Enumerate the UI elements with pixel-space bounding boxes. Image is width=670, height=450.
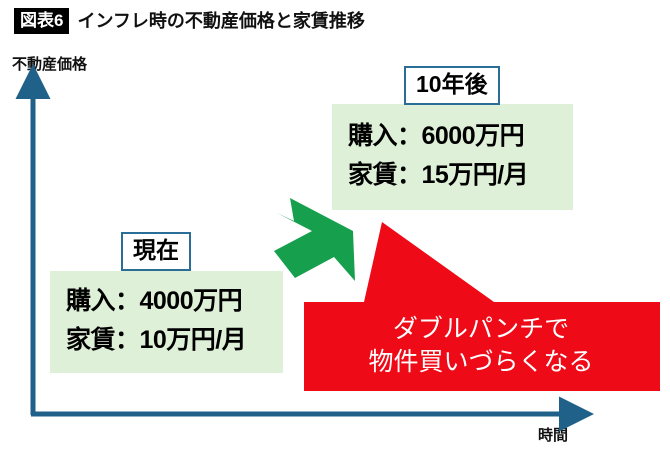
future-value-card: 購入：6000万円 家賃：15万円/月 bbox=[332, 104, 573, 210]
x-axis-label: 時間 bbox=[538, 428, 568, 443]
future-purchase-value: 購入：6000万円 bbox=[348, 124, 557, 149]
infographic-canvas: 図表6 インフレ時の不動産価格と家賃推移 不動産価格 時間 ダブルパンチで 物件… bbox=[0, 0, 670, 450]
future-rent-value: 家賃：15万円/月 bbox=[348, 163, 557, 188]
y-axis-label: 不動産価格 bbox=[12, 57, 87, 72]
present-rent-value: 家賃：10万円/月 bbox=[66, 328, 267, 353]
future-period-chip: 10年後 bbox=[404, 66, 500, 105]
present-value-card: 購入：4000万円 家賃：10万円/月 bbox=[50, 271, 283, 373]
green-arrow-path bbox=[274, 198, 355, 281]
present-period-chip: 現在 bbox=[121, 232, 191, 271]
chart-title-row: 図表6 インフレ時の不動産価格と家賃推移 bbox=[14, 8, 365, 34]
chart-number-badge: 図表6 bbox=[14, 8, 69, 34]
page-title: インフレ時の不動産価格と家賃推移 bbox=[77, 12, 364, 30]
present-purchase-value: 購入：4000万円 bbox=[66, 289, 267, 314]
